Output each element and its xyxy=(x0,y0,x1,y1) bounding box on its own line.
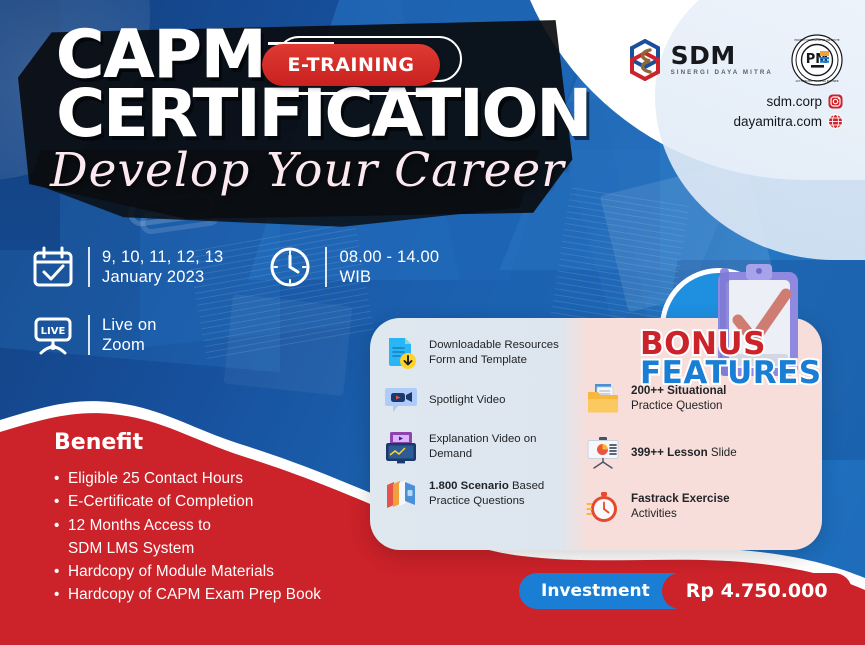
sdm-mark-icon xyxy=(626,39,664,81)
schedule-item-platform: LIVE Live on Zoom xyxy=(30,312,157,358)
divider xyxy=(88,247,90,287)
sdm-tagline: SINERGI DAYA MITRA xyxy=(671,70,773,76)
schedule-row-1: 9, 10, 11, 12, 13 January 2023 xyxy=(30,244,439,290)
sdm-logo: SDM SINERGI DAYA MITRA xyxy=(626,39,773,81)
benefit-content: Benefit Eligible 25 Contact Hours E-Cert… xyxy=(54,430,321,607)
tagline: Develop Your Career xyxy=(50,147,579,194)
video-camera-bubble-icon xyxy=(384,383,418,417)
schedule-item-dates: 9, 10, 11, 12, 13 January 2023 xyxy=(30,244,223,290)
bonus-feature-text: Fastrack ExerciseActivities xyxy=(631,492,730,522)
website-url: dayamitra.com xyxy=(733,112,822,132)
bonus-text-rest: Slide xyxy=(708,446,737,459)
bonus-text-rest: Practice Question xyxy=(631,399,723,412)
schedule-dates-text: 9, 10, 11, 12, 13 January 2023 xyxy=(102,247,223,287)
svg-text:LIVE: LIVE xyxy=(41,326,66,337)
sdm-name: SDM xyxy=(671,43,773,68)
feature-text: Spotlight Video xyxy=(429,393,505,408)
website-row[interactable]: dayamitra.com xyxy=(733,112,843,132)
globe-icon xyxy=(828,114,843,129)
feature-item: Downloadable Resources Form and Template xyxy=(384,336,572,370)
schedule-row-2: LIVE Live on Zoom xyxy=(30,312,157,358)
bonus-feature-item: Fastrack ExerciseActivities xyxy=(586,490,822,524)
bonus-text-bold: 399++ Lesson xyxy=(631,446,708,459)
divider xyxy=(325,247,327,287)
benefit-item: SDM LMS System xyxy=(54,537,321,560)
instagram-handle: sdm.corp xyxy=(766,92,822,112)
investment-price: Rp 4.750.000 xyxy=(662,573,852,609)
stopwatch-icon xyxy=(586,490,620,524)
instagram-icon xyxy=(828,94,843,109)
books-stack-icon xyxy=(384,477,418,511)
benefit-item: 12 Months Access to xyxy=(54,514,321,537)
benefit-item: Eligible 25 Contact Hours xyxy=(54,467,321,490)
presentation-chart-icon xyxy=(586,436,620,470)
e-training-badge: E-TRAINING xyxy=(262,36,462,92)
feature-text: Explanation Video on Demand xyxy=(429,432,572,461)
feature-item: Explanation Video on Demand xyxy=(384,430,572,464)
badge-pill: E-TRAINING xyxy=(262,44,440,86)
investment-banner: Investment Rp 4.750.000 xyxy=(519,573,852,609)
logo-group: SDM SINERGI DAYA MITRA PM PROJECT MANAGE… xyxy=(626,34,843,86)
feature-text: Downloadable Resources Form and Template xyxy=(429,338,572,367)
time-line-2: WIB xyxy=(339,267,439,287)
feature-item: 1.800 Scenario Based Practice Questions xyxy=(384,477,572,511)
contact-block: sdm.corp dayamitra.com xyxy=(733,92,843,131)
features-left-column: Downloadable Resources Form and Template… xyxy=(370,318,572,550)
platform-line-1: Live on xyxy=(102,315,157,335)
benefit-title: Benefit xyxy=(54,430,321,455)
flyer-poster: CAPM CERTIFICATION Develop Your Career E… xyxy=(0,0,865,645)
time-line-1: 08.00 - 14.00 xyxy=(339,247,439,267)
svg-text:AUTHORIZED TRAINING PARTNER: AUTHORIZED TRAINING PARTNER xyxy=(795,79,838,83)
bonus-feature-text: 399++ Lesson Slide xyxy=(631,446,737,461)
instagram-row[interactable]: sdm.corp xyxy=(733,92,843,112)
platform-line-2: Zoom xyxy=(102,335,157,355)
background-texture xyxy=(224,294,353,396)
monitor-video-icon xyxy=(384,430,418,464)
headline-rule xyxy=(272,92,458,95)
bonus-text-bold: Fastrack Exercise xyxy=(631,492,730,505)
schedule-platform-text: Live on Zoom xyxy=(102,315,157,355)
feature-item: Spotlight Video xyxy=(384,383,572,417)
divider xyxy=(88,315,90,355)
bonus-features-heading: BONUS FEATURES xyxy=(640,330,822,388)
dates-line-1: 9, 10, 11, 12, 13 xyxy=(102,247,223,267)
benefit-item: E-Certificate of Completion xyxy=(54,490,321,513)
dates-line-2: January 2023 xyxy=(102,267,223,287)
live-monitor-icon: LIVE xyxy=(30,312,76,358)
feature-text-bold: 1.800 Scenario xyxy=(429,480,509,492)
schedule-time-text: 08.00 - 14.00 WIB xyxy=(339,247,439,287)
document-download-icon xyxy=(384,336,418,370)
pmi-seal-icon: PM PROJECT MANAGEMENT INSTITUTE AUTHORIZ… xyxy=(791,34,843,86)
benefit-list: Eligible 25 Contact Hours E-Certificate … xyxy=(54,467,321,607)
bonus-text-rest: Activities xyxy=(631,507,677,520)
features-word: FEATURES xyxy=(640,359,822,388)
benefit-item: Hardcopy of CAPM Exam Prep Book xyxy=(54,583,321,606)
sdm-wordmark: SDM SINERGI DAYA MITRA xyxy=(671,43,773,76)
folder-documents-icon xyxy=(586,382,620,416)
bonus-feature-item: 399++ Lesson Slide xyxy=(586,436,822,470)
schedule-item-time: 08.00 - 14.00 WIB xyxy=(267,244,439,290)
badge-label: E-TRAINING xyxy=(288,54,415,76)
svg-text:PROJECT MANAGEMENT INSTITUTE: PROJECT MANAGEMENT INSTITUTE xyxy=(795,38,840,42)
clock-icon xyxy=(267,244,313,290)
benefit-item: Hardcopy of Module Materials xyxy=(54,560,321,583)
feature-text: 1.800 Scenario Based Practice Questions xyxy=(429,479,572,508)
calendar-check-icon xyxy=(30,244,76,290)
